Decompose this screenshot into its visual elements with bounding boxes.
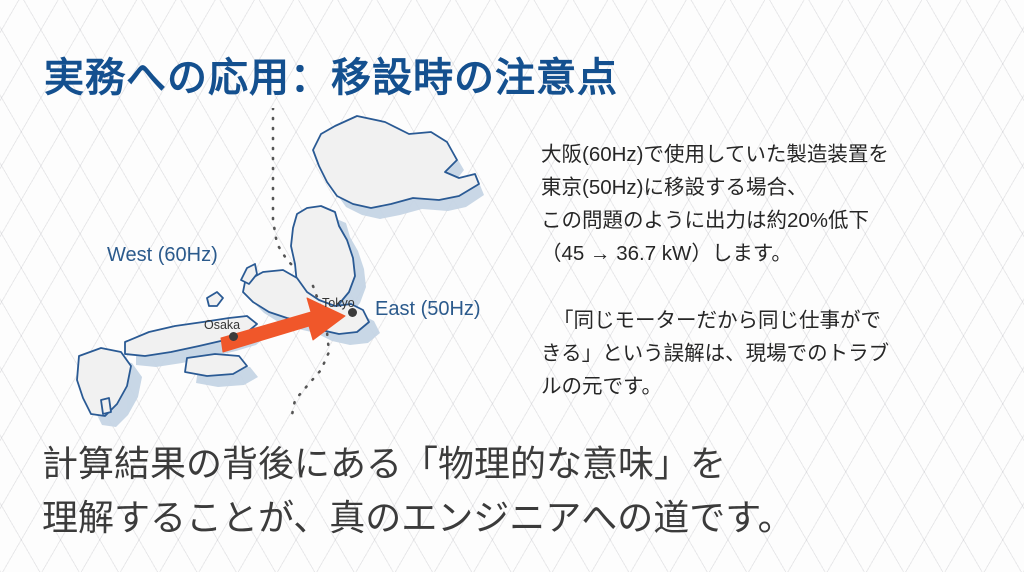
body-paragraph-2: 「同じモーターだから同じ仕事がで きる」という誤解は、現場でのトラブ ルの元です… bbox=[541, 304, 1011, 403]
slide-root: 実務への応用：移設時の注意点 bbox=[0, 0, 1024, 572]
region-label-west: West (60Hz) bbox=[107, 244, 218, 267]
city-dot-tokyo bbox=[348, 308, 357, 317]
region-label-east: East (50Hz) bbox=[375, 298, 481, 321]
japan-map-icon bbox=[45, 108, 515, 428]
page-title: 実務への応用：移設時の注意点 bbox=[44, 45, 618, 103]
conclusion-text: 計算結果の背後にある「物理的な意味」を 理解することが、真のエンジニアへの道です… bbox=[42, 437, 982, 545]
body-text-column: 大阪(60Hz)で使用していた製造装置を 東京(50Hz)に移設する場合、 この… bbox=[541, 138, 1011, 403]
japan-frequency-map: West (60Hz) East (50Hz) Tokyo Osaka bbox=[45, 108, 515, 428]
body-paragraph-1: 大阪(60Hz)で使用していた製造装置を 東京(50Hz)に移設する場合、 この… bbox=[541, 138, 1011, 270]
city-dot-osaka bbox=[229, 332, 238, 341]
city-label-osaka: Osaka bbox=[204, 318, 240, 332]
